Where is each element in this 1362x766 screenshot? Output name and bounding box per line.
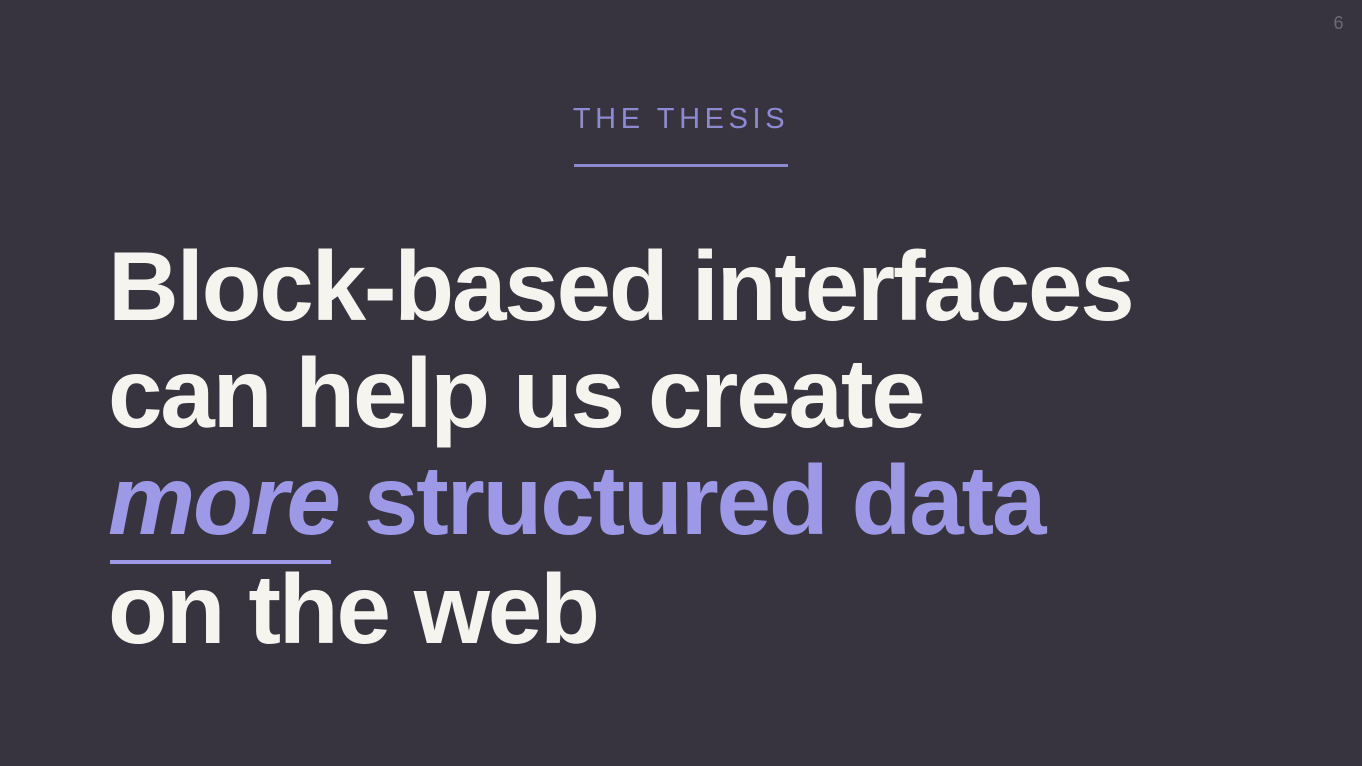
headline-line-4: on the web — [108, 556, 1308, 663]
eyebrow-label: THE THESIS — [573, 104, 789, 134]
headline-line-2: can help us create — [108, 340, 1308, 447]
headline-line-3-rest: structured data — [339, 445, 1044, 555]
eyebrow-block: THE THESIS — [0, 104, 1362, 167]
headline-line-3: more structured data — [108, 447, 1308, 556]
headline: Block-based interfaces can help us creat… — [108, 233, 1308, 663]
page-number: 6 — [1333, 14, 1344, 32]
headline-line-1: Block-based interfaces — [108, 233, 1308, 340]
headline-emphasis-more: more — [108, 447, 339, 556]
slide-canvas: 6 THE THESIS Block-based interfaces can … — [0, 0, 1362, 766]
eyebrow-divider — [574, 164, 788, 167]
